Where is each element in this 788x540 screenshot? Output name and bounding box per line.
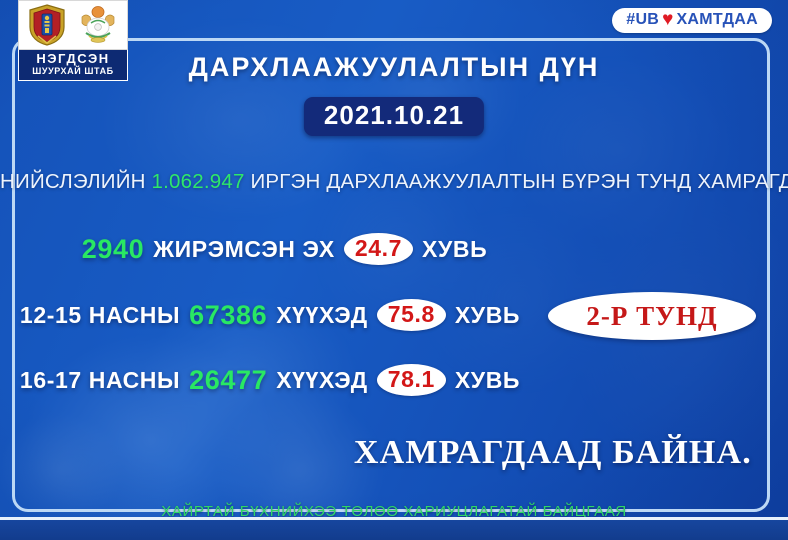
stat-row: 2940 ЖИРЭМСЭН ЭХ 24.7 ХУВЬ: [10, 233, 550, 265]
logo-caption: НЭГДСЭН ШУУРХАЙ ШТАБ: [18, 50, 128, 81]
dose-badge: 2-Р ТУНД: [548, 292, 756, 340]
stat-count: 26477: [189, 365, 267, 396]
stat-age-group: 12-15 НАСНЫ: [20, 302, 180, 329]
hashtag-suffix: ХАМТДАА: [676, 11, 758, 29]
lead-after-text: ИРГЭН ДАРХЛААЖУУЛАЛТЫН БҮРЭН ТУНД ХАМРАГ…: [250, 170, 788, 193]
mongolia-coat-of-arms-emblem: [76, 3, 120, 47]
vaccination-infographic-poster: НЭГДСЭН ШУУРХАЙ ШТАБ #UB ♥ ХАМТДАА ДАРХЛ…: [0, 0, 788, 540]
date-badge: 2021.10.21: [304, 97, 484, 136]
stat-percent-unit: ХУВЬ: [455, 302, 520, 329]
organization-logo: НЭГДСЭН ШУУРХАЙ ШТАБ: [18, 0, 128, 81]
stat-row: 12-15 НАСНЫ 67386 ХҮҮХЭД 75.8 ХУВЬ: [0, 299, 540, 331]
logo-caption-line1: НЭГДСЭН: [21, 52, 125, 66]
stat-label: ХҮҮХЭД: [276, 302, 367, 329]
hashtag-badge: #UB ♥ ХАМТДАА: [612, 8, 772, 33]
stat-label: ХҮҮХЭД: [276, 367, 367, 394]
lead-before-text: НИЙСЛЭЛИЙН: [0, 170, 146, 193]
stat-percent-unit: ХУВЬ: [422, 236, 487, 263]
police-shield-emblem: [26, 3, 68, 47]
logo-emblems-row: [18, 0, 128, 50]
bottom-band: [0, 520, 788, 540]
stat-count: 2940: [82, 234, 144, 265]
stat-percent-unit: ХУВЬ: [455, 367, 520, 394]
lead-statement: НИЙСЛЭЛИЙН 1.062.947 ИРГЭН ДАРХЛААЖУУЛАЛ…: [0, 170, 788, 194]
stat-label: ЖИРЭМСЭН ЭХ: [153, 236, 335, 263]
stat-age-group: 16-17 НАСНЫ: [20, 367, 180, 394]
dose-badge-label: 2-Р ТУНД: [586, 301, 717, 332]
stat-percent-badge: 75.8: [377, 299, 446, 331]
lead-total-number: 1.062.947: [152, 170, 245, 193]
stat-percent-badge: 24.7: [344, 233, 413, 265]
logo-caption-line2: ШУУРХАЙ ШТАБ: [21, 66, 125, 77]
heart-icon: ♥: [662, 12, 673, 28]
hashtag-prefix: #UB: [626, 11, 659, 29]
stat-row: 16-17 НАСНЫ 26477 ХҮҮХЭД 78.1 ХУВЬ: [0, 364, 540, 396]
stat-count: 67386: [189, 300, 267, 331]
stat-percent-badge: 78.1: [377, 364, 446, 396]
closing-statement: ХАМРАГДААД БАЙНА.: [354, 434, 752, 472]
